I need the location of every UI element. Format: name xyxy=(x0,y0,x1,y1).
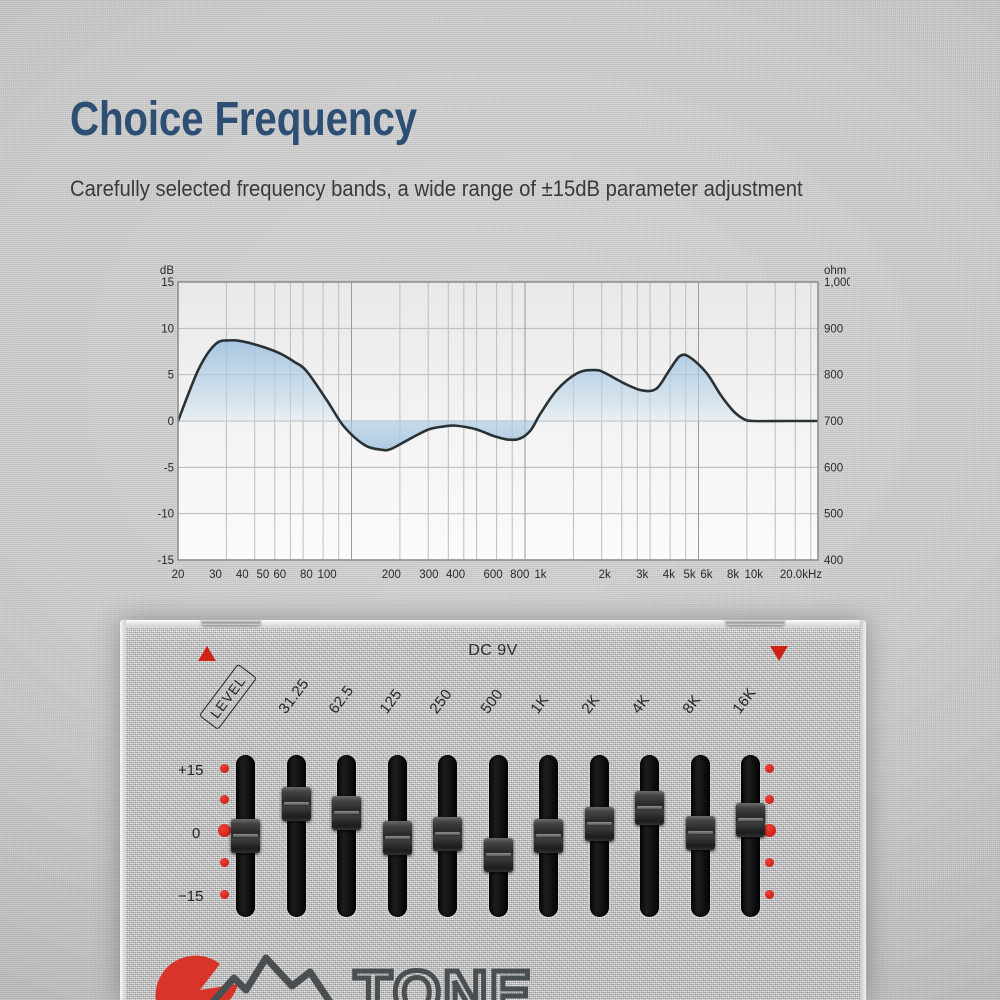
y-tick-label: -10 xyxy=(157,509,174,521)
slider-band-1K[interactable] xyxy=(539,755,558,917)
slider-label-125: 125 xyxy=(376,686,405,717)
x-tick-label: 50 xyxy=(256,569,269,581)
output-jack[interactable] xyxy=(726,620,784,625)
page-subtitle: Carefully selected frequency bands, a wi… xyxy=(70,175,880,203)
y-axis-unit: dB xyxy=(160,265,174,277)
slider-band-62.5[interactable] xyxy=(337,755,356,917)
y-tick-label: 5 xyxy=(168,370,174,382)
brand-logo: TONE xyxy=(142,928,562,1000)
x-tick-label: 20.0kHz xyxy=(780,569,822,581)
slider-band-16K[interactable] xyxy=(741,755,760,917)
x-tick-label: 300 xyxy=(419,569,438,581)
page-title: Choice Frequency xyxy=(70,96,809,144)
eq-pedal-device: DC 9V LEVEL 31.2562.51252505001K2K4K8K16… xyxy=(120,620,866,1000)
x-tick-label: 20 xyxy=(172,569,185,581)
logo-red-shape xyxy=(156,956,238,1000)
y-tick-label: 10 xyxy=(161,323,174,335)
slider-band-250[interactable] xyxy=(438,755,457,917)
slider-label-1K: 1K xyxy=(527,692,552,717)
x-tick-label: 1k xyxy=(534,569,546,581)
x-tick-label: 30 xyxy=(209,569,222,581)
slider-level[interactable] xyxy=(236,755,255,917)
x-tick-label: 40 xyxy=(236,569,249,581)
x-tick-label: 4k xyxy=(663,569,675,581)
x-tick-label: 10k xyxy=(745,569,764,581)
x-tick-label: 200 xyxy=(382,569,401,581)
x-axis-ticks: 2030405060801002003004006008001k2k3k4k5k… xyxy=(172,569,823,581)
slider-knob[interactable] xyxy=(635,791,664,825)
y-tick-label: -5 xyxy=(164,462,174,474)
y2-axis-unit: ohm xyxy=(824,265,846,277)
slider-band-2K[interactable] xyxy=(590,755,609,917)
x-tick-label: 800 xyxy=(510,569,529,581)
x-tick-label: 3k xyxy=(636,569,648,581)
level-slider-label: LEVEL xyxy=(199,664,257,730)
slider-knob[interactable] xyxy=(231,819,260,853)
y-tick-label: -15 xyxy=(157,555,174,567)
slider-knob[interactable] xyxy=(686,816,715,850)
slider-knob[interactable] xyxy=(282,787,311,821)
brand-name: TONE xyxy=(354,959,533,1000)
input-jack[interactable] xyxy=(202,620,260,625)
logo-mountain-icon xyxy=(202,958,338,1000)
y2-tick-label: 500 xyxy=(824,509,843,521)
slider-knob[interactable] xyxy=(585,807,614,841)
x-tick-label: 80 xyxy=(300,569,313,581)
slider-knob[interactable] xyxy=(433,817,462,851)
slider-label-8K: 8K xyxy=(679,692,704,717)
y2-tick-label: 400 xyxy=(824,555,843,567)
y2-tick-label: 700 xyxy=(824,416,843,428)
slider-knob[interactable] xyxy=(484,838,513,872)
x-tick-label: 2k xyxy=(599,569,611,581)
slider-knob[interactable] xyxy=(534,819,563,853)
slider-knob[interactable] xyxy=(736,803,765,837)
slider-label-62.5: 62.5 xyxy=(325,682,357,717)
y-tick-label: 15 xyxy=(161,277,174,289)
slider-label-500: 500 xyxy=(477,686,506,717)
frequency-response-chart: dB ohm 151050-5-10-15 1,0009008007006005… xyxy=(150,262,850,592)
y2-axis-ticks: 1,000900800700600500400 xyxy=(824,277,850,567)
x-tick-label: 6k xyxy=(700,569,712,581)
slider-band-500[interactable] xyxy=(489,755,508,917)
slider-knob[interactable] xyxy=(383,821,412,855)
slider-band-31.25[interactable] xyxy=(287,755,306,917)
y-tick-label: 0 xyxy=(168,416,174,428)
x-tick-label: 5k xyxy=(683,569,695,581)
slider-label-31.25: 31.25 xyxy=(275,676,312,717)
slider-label-2K: 2K xyxy=(578,692,603,717)
y2-tick-label: 600 xyxy=(824,462,843,474)
y-axis-ticks: 151050-5-10-15 xyxy=(157,277,174,567)
y2-tick-label: 800 xyxy=(824,370,843,382)
x-tick-label: 100 xyxy=(318,569,337,581)
x-tick-label: 60 xyxy=(273,569,286,581)
x-tick-label: 8k xyxy=(727,569,739,581)
y2-tick-label: 900 xyxy=(824,323,843,335)
slider-knob[interactable] xyxy=(332,796,361,830)
slider-band-4K[interactable] xyxy=(640,755,659,917)
x-tick-label: 400 xyxy=(446,569,465,581)
slider-label-4K: 4K xyxy=(628,692,653,717)
slider-band-125[interactable] xyxy=(388,755,407,917)
slider-label-16K: 16K xyxy=(729,685,759,717)
y2-tick-label: 1,000 xyxy=(824,277,850,289)
x-tick-label: 600 xyxy=(484,569,503,581)
slider-band-8K[interactable] xyxy=(691,755,710,917)
slider-label-250: 250 xyxy=(426,686,455,717)
chart-svg: dB ohm 151050-5-10-15 1,0009008007006005… xyxy=(150,262,850,592)
